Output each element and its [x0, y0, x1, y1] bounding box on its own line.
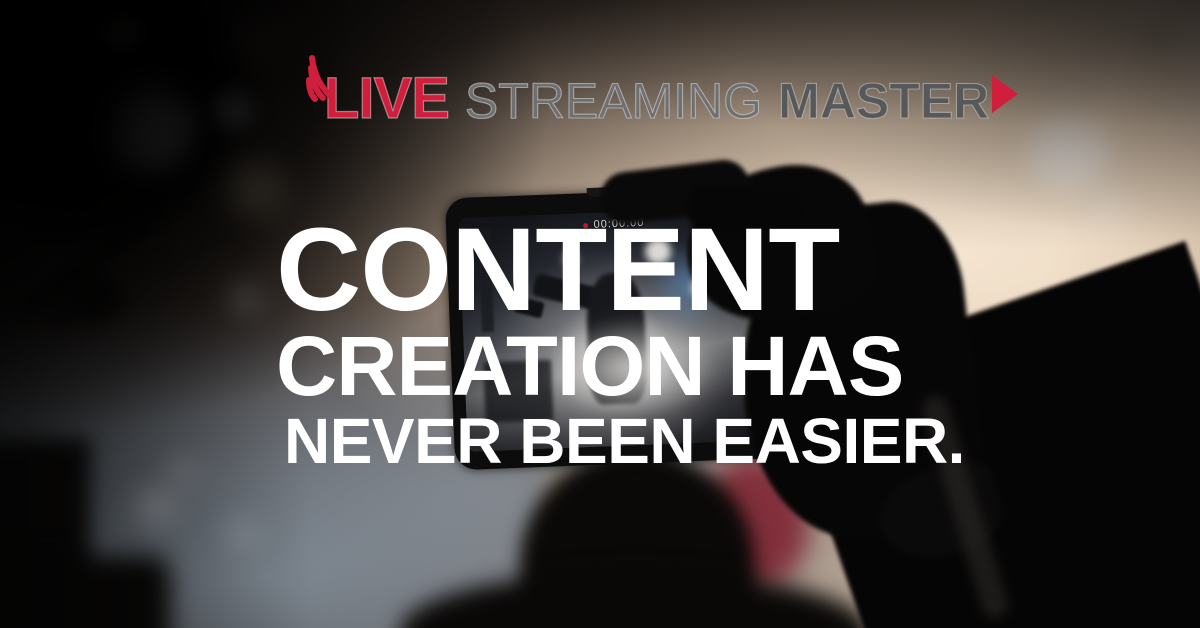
brand-logo[interactable]: LIVE STREAMING MASTER	[292, 52, 1018, 128]
promo-banner: 00:00:00 LIVE STREAMING MASTER CONTENT C…	[0, 0, 1200, 628]
logo-word-live: LIVE	[324, 70, 449, 128]
logo-word-streaming: STREAMING	[465, 76, 762, 126]
logo-word-master: MASTER	[778, 76, 989, 126]
play-triangle-icon	[992, 75, 1018, 113]
logo-wordmark: LIVE STREAMING MASTER	[324, 70, 1018, 128]
headline-line-1: CONTENT	[276, 216, 965, 326]
headline-line-3: NEVER BEEN EASIER.	[284, 409, 965, 473]
broadcast-wave-icon	[292, 52, 338, 102]
headline: CONTENT CREATION HAS NEVER BEEN EASIER.	[276, 216, 965, 473]
headline-line-2: CREATION HAS	[276, 324, 972, 408]
